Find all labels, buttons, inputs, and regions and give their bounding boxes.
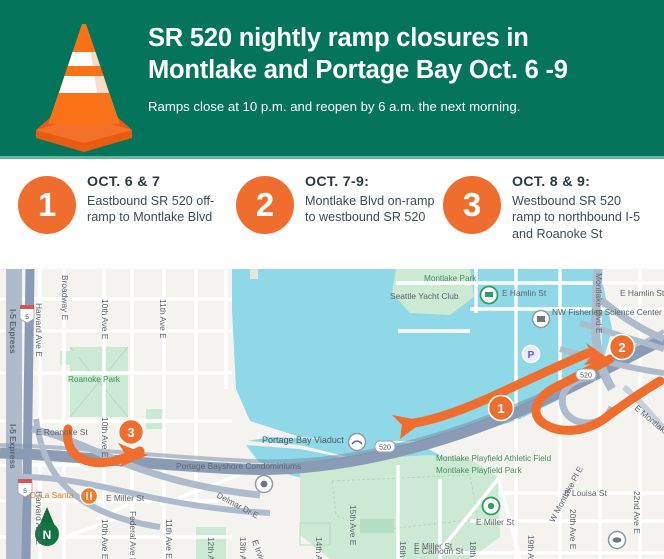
label-11th-ave-e: 11th Ave E	[158, 299, 168, 339]
restaurant-icon[interactable]	[81, 488, 98, 505]
infographic-page: SR 520 nightly ramp closures in Montlake…	[0, 0, 664, 559]
label-12th-ave-e: 12th Ave E	[206, 537, 216, 559]
step-description: Westbound SR 520 ramp to northbound I-5 …	[512, 193, 644, 242]
label-19th-ave-e: 19th Ave E	[526, 535, 536, 559]
label-montlake-blvd-e: Montlake Blvd E	[594, 273, 604, 334]
step-number-badge: 3	[443, 176, 501, 234]
label-15th-ave-e: 15th Ave E	[348, 505, 358, 546]
svg-text:P: P	[528, 350, 535, 361]
label-federal-ave-e: Federal Ave E	[128, 511, 138, 559]
traffic-cone-icon	[28, 12, 140, 152]
closure-step-3: 3 OCT. 8 & 9: Westbound SR 520 ramp to n…	[443, 173, 644, 242]
label-portage-bayshore-condominiums: Portage Bayshore Condominiums	[176, 461, 301, 471]
label-20th-ave-e: 20th Ave E	[568, 509, 578, 550]
route-marker-2[interactable]: 2	[610, 335, 635, 360]
label-montlake-park: Montlake Park	[424, 274, 477, 283]
label-e-calhoun-st: E Calhoun St	[414, 546, 464, 556]
closure-step-2: 2 OCT. 7-9: Montlake Blvd on-ramp to wes…	[236, 173, 437, 234]
label-10th-ave-e-mid: 10th Ave E	[100, 417, 110, 458]
label-portage-bay-viaduct: Portage Bay Viaduct	[262, 435, 344, 445]
label-e-miller-st-east: E Miller St	[476, 517, 515, 527]
step-date: OCT. 8 & 9:	[512, 174, 644, 191]
page-subtitle: Ramps close at 10 p.m. and reopen by 6 a…	[148, 98, 652, 115]
athletic-field-icon[interactable]	[483, 498, 500, 515]
page-title: SR 520 nightly ramp closures in Montlake…	[148, 22, 652, 86]
sr520-shield: 520	[375, 441, 395, 452]
label-e-hamlin-st: E Hamlin St	[502, 288, 547, 298]
closure-steps-row: 1 OCT. 6 & 7 Eastbound SR 520 off-ramp t…	[0, 159, 664, 269]
label-10th-ave-e: 10th Ave E	[100, 299, 110, 340]
i5-shield-north-label: 5	[25, 314, 29, 321]
label-roanoke-park: Roanoke Park	[68, 375, 121, 384]
label-i5-express-south: I-5 Express	[8, 424, 18, 469]
route-marker-3-label: 3	[127, 425, 134, 440]
closure-map[interactable]: 3 1 2 520 520 5	[0, 269, 664, 559]
building-icon[interactable]	[256, 476, 273, 493]
route-marker-1[interactable]: 1	[489, 396, 514, 421]
step-text-block: OCT. 6 & 7 Eastbound SR 520 off-ramp to …	[87, 173, 219, 226]
label-broadway-e: Broadway E	[60, 275, 70, 321]
step-text-block: OCT. 8 & 9: Westbound SR 520 ramp to nor…	[512, 173, 644, 242]
page-title-line-1: SR 520 nightly ramp closures in	[148, 24, 529, 52]
route-marker-1-label: 1	[497, 401, 504, 416]
parking-icon[interactable]: P	[523, 346, 540, 363]
label-13th-ave-e: 13th Ave E	[238, 537, 248, 559]
label-i5-express-north: I-5 Express	[8, 309, 18, 354]
label-nw-fisheries: NW Fisheries Science Center	[552, 307, 662, 317]
label-montlake-playfield-athletic-line1: Montlake Playfield Athletic Field	[436, 454, 552, 463]
i5-shield-north: 5	[20, 305, 34, 323]
step-date: OCT. 7-9:	[305, 174, 437, 191]
route-marker-2-label: 2	[618, 340, 625, 355]
closure-step-1: 1 OCT. 6 & 7 Eastbound SR 520 off-ramp t…	[18, 173, 219, 234]
sr520-shield-label: 520	[379, 445, 391, 452]
label-e-miller-st-west: E Miller St	[106, 493, 145, 503]
header-text-block: SR 520 nightly ramp closures in Montlake…	[148, 22, 652, 115]
step-description: Eastbound SR 520 off-ramp to Montlake Bl…	[87, 193, 219, 225]
yacht-club-icon[interactable]	[481, 287, 498, 304]
step-text-block: OCT. 7-9: Montlake Blvd on-ramp to westb…	[305, 173, 437, 226]
label-harvard-ave-e: Harvard Ave E	[34, 303, 44, 357]
step-number-badge: 2	[236, 176, 294, 234]
label-16th-ave-e: 16th Ave E	[398, 541, 408, 559]
label-e-hamlin-st-east: E Hamlin St	[620, 288, 664, 298]
step-date: OCT. 6 & 7	[87, 174, 219, 191]
sr520-shield-east: 520	[576, 369, 596, 380]
sr520-shield-east-label: 520	[580, 373, 592, 380]
science-center-icon[interactable]	[533, 311, 550, 328]
label-11th-ave-e-south: 11th Ave E	[164, 519, 174, 559]
label-montlake-playfield-park: Montlake Playfield Park	[436, 466, 522, 475]
step-number-badge: 1	[18, 176, 76, 234]
i5-shield-south-label: 5	[23, 488, 27, 495]
page-title-line-2: Montlake and Portage Bay Oct. 6 -9	[148, 56, 568, 84]
header-banner: SR 520 nightly ramp closures in Montlake…	[0, 0, 664, 156]
label-14th-ave-e: 14th Ave E	[314, 537, 324, 559]
bridge-icon[interactable]	[349, 434, 366, 451]
label-22nd-ave-e: 22nd Ave E	[632, 491, 642, 534]
route-marker-3[interactable]: 3	[119, 420, 144, 445]
label-harvard-ave-e-south: Harvard Ave E	[34, 491, 44, 545]
transit-icon[interactable]	[609, 532, 626, 549]
label-10th-ave-e-south: 10th Ave E	[100, 519, 110, 559]
step-description: Montlake Blvd on-ramp to westbound SR 52…	[305, 193, 437, 225]
label-e-roanoke-st: E Roanoke St	[36, 427, 88, 437]
label-18th-ave-e: 18th Ave E	[468, 541, 478, 559]
label-seattle-yacht-club: Seattle Yacht Club	[390, 291, 459, 301]
